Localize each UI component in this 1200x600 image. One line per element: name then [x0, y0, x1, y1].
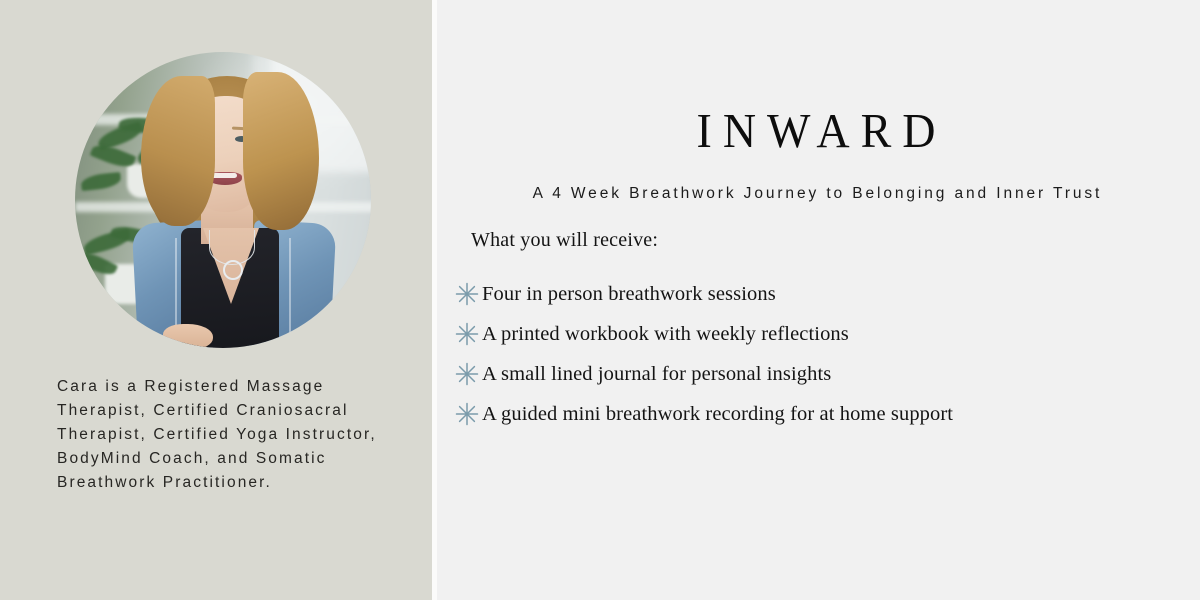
denim-seam — [289, 238, 291, 348]
teeth — [211, 173, 237, 178]
panel-divider — [432, 0, 437, 600]
hair-strand-left — [141, 76, 215, 226]
page-title: INWARD — [432, 102, 1200, 158]
hair-strand-right — [243, 72, 319, 230]
person-figure — [75, 52, 371, 348]
list-item: A small lined journal for personal insig… — [455, 354, 1155, 394]
instructor-bio: Cara is a Registered Massage Therapist, … — [57, 375, 397, 495]
event-poster: Cara is a Registered Massage Therapist, … — [0, 0, 1200, 600]
list-item: A printed workbook with weekly reflectio… — [455, 314, 1155, 354]
hand — [163, 324, 213, 348]
left-panel: Cara is a Registered Massage Therapist, … — [0, 0, 432, 600]
benefits-list: Four in person breathwork sessions A pri… — [455, 274, 1155, 434]
list-item: A guided mini breathwork recording for a… — [455, 394, 1155, 434]
portrait-photo — [75, 52, 371, 348]
necklace-pendant — [223, 260, 243, 280]
list-item: Four in person breathwork sessions — [455, 274, 1155, 314]
section-label-receive: What you will receive: — [471, 229, 658, 252]
right-panel: INWARD A 4 Week Breathwork Journey to Be… — [432, 0, 1200, 600]
eight-point-star-icon — [455, 322, 479, 346]
list-item-label: A printed workbook with weekly reflectio… — [482, 323, 849, 346]
eight-point-star-icon — [455, 282, 479, 306]
eight-point-star-icon — [455, 402, 479, 426]
list-item-label: Four in person breathwork sessions — [482, 283, 776, 306]
list-item-label: A guided mini breathwork recording for a… — [482, 403, 953, 426]
instructor-portrait — [75, 52, 371, 348]
list-item-label: A small lined journal for personal insig… — [482, 363, 831, 386]
eight-point-star-icon — [455, 362, 479, 386]
page-subtitle: A 4 Week Breathwork Journey to Belonging… — [432, 185, 1200, 203]
